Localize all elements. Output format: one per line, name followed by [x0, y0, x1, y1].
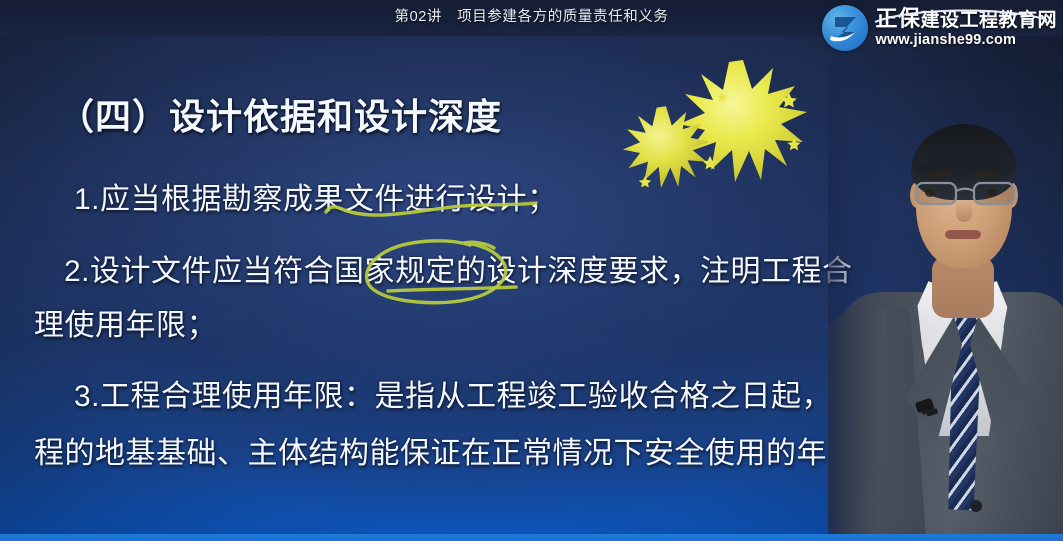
brand-name-suffix: 建设工程教育网: [920, 10, 1057, 31]
brand-name: 正保建设工程教育网: [875, 8, 1057, 30]
brand-logo[interactable]: 正保建设工程教育网 www.jianshe99.com: [822, 2, 1057, 54]
slide-heading: （四）设计依据和设计深度: [58, 88, 502, 140]
presenter-figure: [828, 60, 1063, 541]
player-progress-strip[interactable]: [0, 534, 1063, 541]
z-swoosh-circle-icon: [822, 5, 868, 51]
presenter-nose: [956, 200, 972, 222]
brand-website: www.jianshe99.com: [875, 33, 1057, 48]
slide-line-2: 2.设计文件应当符合国家规定的设计深度要求，注明工程合: [64, 246, 853, 290]
slide-line-3: 理使用年限；: [34, 300, 217, 344]
presenter-suit-button: [970, 500, 982, 512]
slide-line-4: 3.工程合理使用年限：是指从工程竣工验收合格之日起，工: [74, 371, 863, 415]
presenter-shoulder-left: [828, 307, 926, 541]
slide-line-1: 1.应当根据勘察成果文件进行设计；: [74, 174, 558, 218]
brand-logo-text: 正保建设工程教育网 www.jianshe99.com: [875, 8, 1057, 48]
slide-line-5: 程的地基基础、主体结构能保证在正常情况下安全使用的年: [34, 428, 827, 472]
presenter-mouth: [945, 230, 981, 239]
video-player-frame: （四）设计依据和设计深度 1.应当根据勘察成果文件进行设计； 2.设计文件应当符…: [0, 0, 1063, 541]
brand-name-prefix: 正保: [875, 6, 920, 31]
